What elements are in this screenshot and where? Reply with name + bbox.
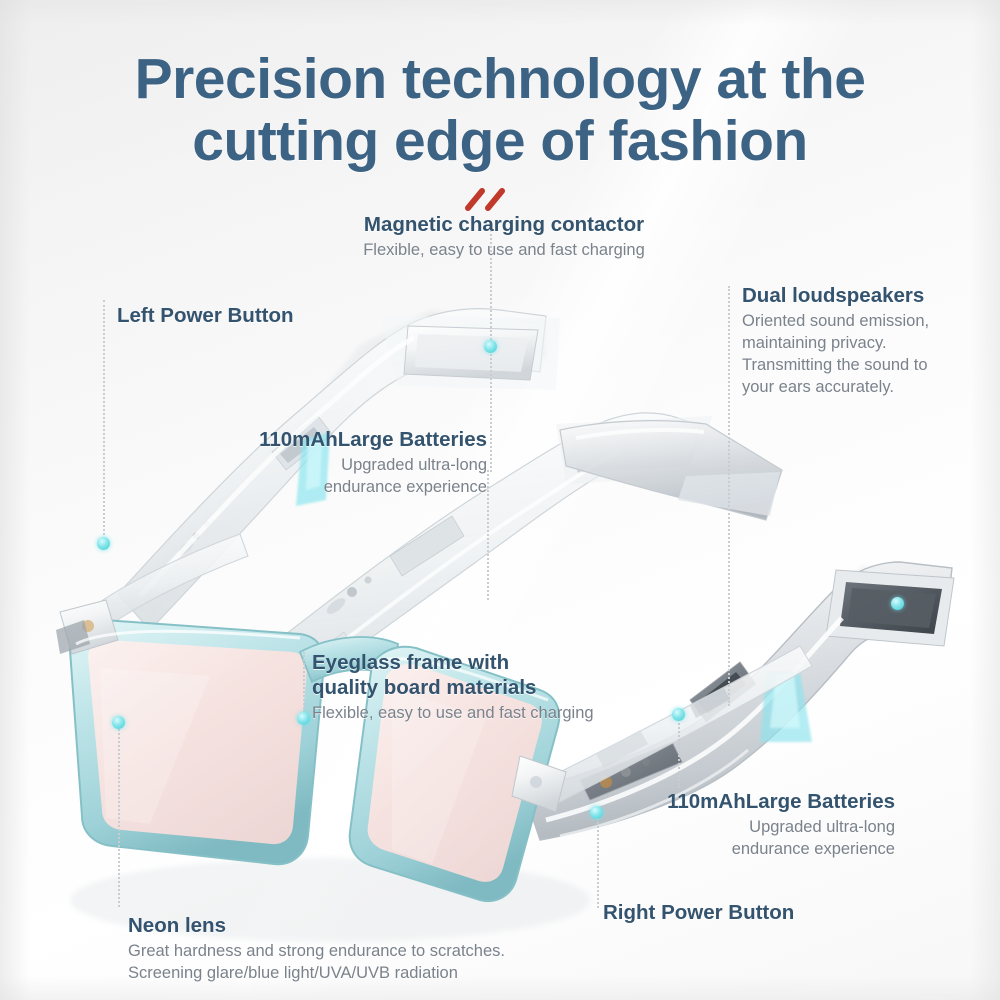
page-title: Precision technology at the cutting edge…: [0, 48, 1000, 172]
leader-line-dual-loudspeakers: [728, 286, 730, 706]
right-temple-plate: [560, 421, 782, 520]
callout-sub-line: Screening glare/blue light/UVA/UVB radia…: [128, 962, 548, 984]
callout-title: Left Power Button: [117, 303, 347, 328]
callout-sub-line: maintaining privacy.: [742, 332, 972, 354]
callout-batteries-bottom: 110mAhLarge Batteries Upgraded ultra-lon…: [630, 789, 895, 860]
callout-sub-line: Flexible, easy to use and fast charging: [312, 702, 632, 724]
dot-eyeglass-frame: [297, 712, 310, 725]
callout-sub-line: Flexible, easy to use and fast charging: [338, 239, 670, 261]
headline-line-1: Precision technology at the: [0, 48, 1000, 110]
callout-right-power-button: Right Power Button: [603, 900, 863, 925]
callout-sub-line: Oriented sound emission,: [742, 310, 972, 332]
callout-title-line-1: Eyeglass frame with: [312, 650, 632, 675]
leader-line-eyeglass-frame: [303, 652, 305, 717]
leader-line-batteries-top: [487, 470, 489, 600]
callout-sub-line: Upgraded ultra-long: [225, 454, 487, 476]
dot-neon-lens: [112, 716, 125, 729]
callout-dual-loudspeakers: Dual loudspeakers Oriented sound emissio…: [742, 283, 972, 398]
callout-title: 110mAhLarge Batteries: [225, 427, 487, 452]
dot-left-power-button: [97, 537, 110, 550]
dot-batteries-bottom: [672, 708, 685, 721]
callout-eyeglass-frame: Eyeglass frame with quality board materi…: [312, 650, 632, 724]
leader-line-batteries-bottom: [678, 716, 680, 788]
callout-title: Magnetic charging contactor: [338, 212, 670, 237]
callout-sub-line: your ears accurately.: [742, 376, 972, 398]
callout-title: 110mAhLarge Batteries: [630, 789, 895, 814]
dot-dual-loudspeakers: [891, 597, 904, 610]
callout-sub-line: Great hardness and strong endurance to s…: [128, 940, 548, 962]
headline-line-2: cutting edge of fashion: [0, 110, 1000, 172]
callout-neon-lens: Neon lens Great hardness and strong endu…: [128, 913, 548, 984]
leader-line-right-power-button: [597, 818, 599, 908]
callout-title-line-2: quality board materials: [312, 675, 632, 700]
dot-magnetic-charging: [484, 340, 497, 353]
leader-line-neon-lens: [118, 722, 120, 907]
callout-sub-line: endurance experience: [630, 838, 895, 860]
callout-batteries-top: 110mAhLarge Batteries Upgraded ultra-lon…: [225, 427, 487, 498]
red-double-slash-icon: [462, 186, 514, 212]
leader-line-left-power-button: [103, 300, 105, 543]
callout-sub-line: Transmitting the sound to: [742, 354, 972, 376]
dot-right-power-button: [590, 806, 603, 819]
callout-title: Dual loudspeakers: [742, 283, 972, 308]
callout-sub-line: endurance experience: [225, 476, 487, 498]
callout-magnetic-charging-contactor: Magnetic charging contactor Flexible, ea…: [338, 212, 670, 261]
callout-left-power-button: Left Power Button: [117, 303, 347, 328]
callout-sub-line: Upgraded ultra-long: [630, 816, 895, 838]
infographic-page: Precision technology at the cutting edge…: [0, 0, 1000, 1000]
callout-title: Right Power Button: [603, 900, 863, 925]
callout-title: Neon lens: [128, 913, 548, 938]
